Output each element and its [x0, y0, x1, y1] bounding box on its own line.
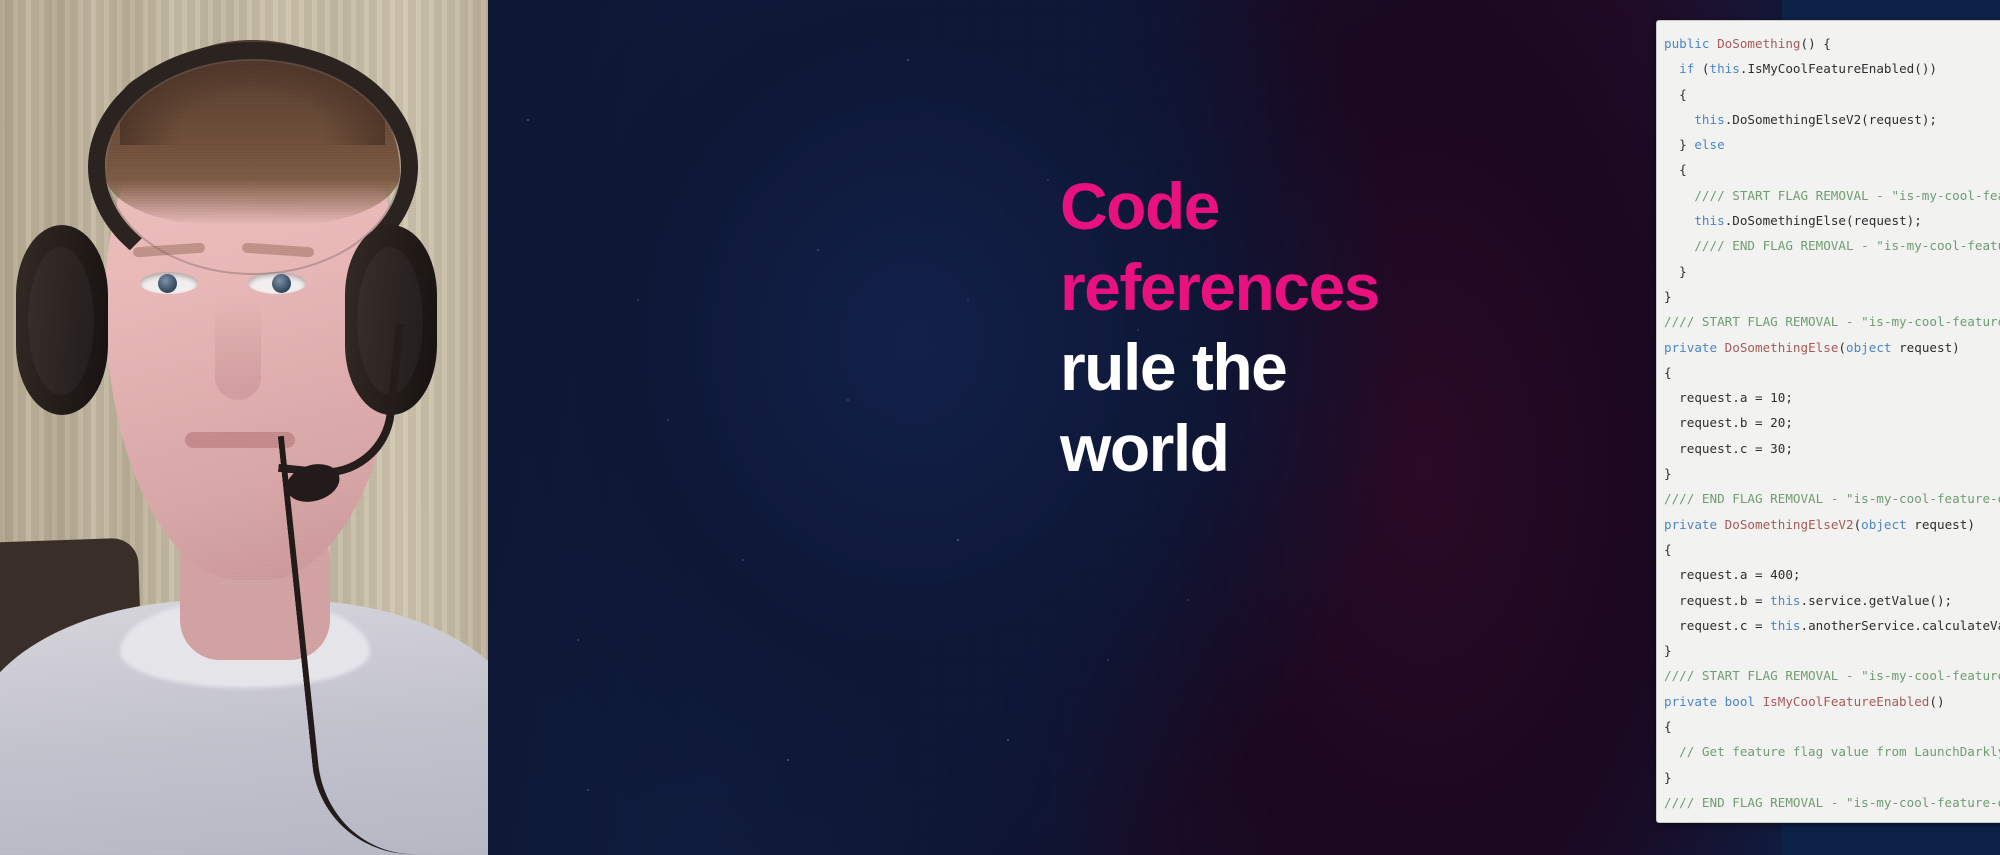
code-token: .DoSomethingElseV2(request);: [1725, 112, 1937, 127]
code-token: .IsMyCoolFeatureEnabled()): [1740, 61, 1937, 76]
code-token: }: [1664, 264, 1687, 279]
code-line: private DoSomethingElse(object request): [1664, 335, 2000, 360]
code-token: }: [1664, 137, 1694, 152]
code-token: //// START FLAG REMOVAL - "is-my-cool-fe…: [1664, 314, 2000, 329]
code-line: request.c = 30;: [1664, 436, 2000, 461]
headline-line-2: references: [1060, 247, 1530, 328]
code-token: //// END FLAG REMOVAL - "is-my-cool-feat…: [1664, 795, 2000, 810]
code-token: {: [1664, 365, 1672, 380]
slide-area: Code references rule the world public Do…: [488, 0, 2000, 855]
code-line: //// END FLAG REMOVAL - "is-my-cool-feat…: [1664, 790, 2000, 815]
code-token: (: [1838, 340, 1846, 355]
code-line: request.b = 20;: [1664, 410, 2000, 435]
headline-line-4: world: [1060, 408, 1530, 489]
code-token: {: [1664, 87, 1687, 102]
code-token: () {: [1800, 36, 1830, 51]
code-snippet-text: public DoSomething() { if (this.IsMyCool…: [1657, 31, 2000, 815]
code-token: [1664, 213, 1694, 228]
code-token: public: [1664, 36, 1717, 51]
code-token: {: [1664, 162, 1687, 177]
code-token: this: [1710, 61, 1740, 76]
code-token: //// END FLAG REMOVAL - "is-my-cool-feat…: [1664, 238, 2000, 253]
code-line: //// START FLAG REMOVAL - "is-my-cool-fe…: [1664, 663, 2000, 688]
code-line: {: [1664, 82, 2000, 107]
code-token: //// START FLAG REMOVAL - "is-my-cool-fe…: [1664, 188, 2000, 203]
webcam-video-grain: [0, 0, 488, 855]
code-line: }: [1664, 259, 2000, 284]
code-line: private DoSomethingElseV2(object request…: [1664, 512, 2000, 537]
code-token: if: [1679, 61, 1694, 76]
code-token: }: [1664, 289, 1672, 304]
code-line: if (this.IsMyCoolFeatureEnabled()): [1664, 56, 2000, 81]
code-line: }: [1664, 284, 2000, 309]
code-line: {: [1664, 714, 2000, 739]
code-token: object: [1846, 340, 1892, 355]
code-token: request.b =: [1664, 593, 1770, 608]
code-token: this: [1694, 213, 1724, 228]
headline-line-1: Code: [1060, 166, 1530, 247]
code-token: this: [1694, 112, 1724, 127]
code-line: //// END FLAG REMOVAL - "is-my-cool-feat…: [1664, 233, 2000, 258]
code-token: private bool: [1664, 694, 1763, 709]
code-token: private: [1664, 517, 1725, 532]
code-line: // Get feature flag value from LaunchDar…: [1664, 739, 2000, 764]
code-line: }: [1664, 638, 2000, 663]
code-line: request.a = 400;: [1664, 562, 2000, 587]
code-line: } else: [1664, 132, 2000, 157]
presentation-stage: Code references rule the world public Do…: [0, 0, 2000, 855]
code-line: request.c = this.anotherService.calculat…: [1664, 613, 2000, 638]
code-token: [1664, 112, 1694, 127]
code-token: IsMyCoolFeatureEnabled: [1763, 694, 1930, 709]
code-token: DoSomething: [1717, 36, 1800, 51]
code-line: this.DoSomethingElseV2(request);: [1664, 107, 2000, 132]
code-line: request.a = 10;: [1664, 385, 2000, 410]
code-token: .DoSomethingElse(request);: [1725, 213, 1922, 228]
code-token: request.c = 30;: [1664, 441, 1793, 456]
code-token: this: [1770, 593, 1800, 608]
code-token: [1664, 61, 1679, 76]
code-token: request): [1907, 517, 1975, 532]
presenter-webcam-feed: [0, 0, 488, 855]
code-token: (: [1694, 61, 1709, 76]
code-line: }: [1664, 765, 2000, 790]
code-token: //// START FLAG REMOVAL - "is-my-cool-fe…: [1664, 668, 2000, 683]
code-line: {: [1664, 360, 2000, 385]
code-token: private: [1664, 340, 1725, 355]
code-line: {: [1664, 157, 2000, 182]
code-token: else: [1694, 137, 1724, 152]
code-token: DoSomethingElse: [1725, 340, 1839, 355]
code-token: {: [1664, 542, 1672, 557]
code-line: this.DoSomethingElse(request);: [1664, 208, 2000, 233]
code-token: request.a = 10;: [1664, 390, 1793, 405]
code-token: DoSomethingElseV2: [1725, 517, 1854, 532]
code-line: {: [1664, 537, 2000, 562]
code-token: .service.getValue();: [1801, 593, 1953, 608]
code-line: public DoSomething() {: [1664, 31, 2000, 56]
code-token: {: [1664, 719, 1672, 734]
code-token: request.c =: [1664, 618, 1770, 633]
code-token: this: [1770, 618, 1800, 633]
headline-line-3: rule the: [1060, 327, 1530, 408]
code-line: request.b = this.service.getValue();: [1664, 588, 2000, 613]
code-line: //// START FLAG REMOVAL - "is-my-cool-fe…: [1664, 309, 2000, 334]
code-line: }: [1664, 461, 2000, 486]
code-line: private bool IsMyCoolFeatureEnabled(): [1664, 689, 2000, 714]
code-token: request.a = 400;: [1664, 567, 1800, 582]
code-token: request): [1892, 340, 1960, 355]
code-snippet-panel: public DoSomething() { if (this.IsMyCool…: [1656, 20, 2000, 823]
code-token: request.b = 20;: [1664, 415, 1793, 430]
code-token: }: [1664, 643, 1672, 658]
code-token: object: [1861, 517, 1907, 532]
code-line: //// END FLAG REMOVAL - "is-my-cool-feat…: [1664, 486, 2000, 511]
code-token: // Get feature flag value from LaunchDar…: [1664, 744, 2000, 759]
code-line: //// START FLAG REMOVAL - "is-my-cool-fe…: [1664, 183, 2000, 208]
code-token: }: [1664, 770, 1672, 785]
code-token: }: [1664, 466, 1672, 481]
code-token: .anotherService.calculateValue(request.a…: [1801, 618, 2000, 633]
code-token: (): [1929, 694, 1944, 709]
code-token: //// END FLAG REMOVAL - "is-my-cool-feat…: [1664, 491, 2000, 506]
slide-headline: Code references rule the world: [1060, 166, 1530, 488]
